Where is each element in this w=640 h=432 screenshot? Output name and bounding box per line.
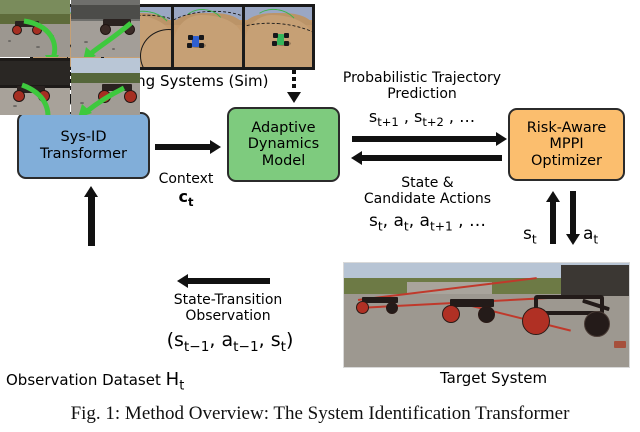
dynamics-line3: Model (262, 153, 306, 169)
observation-photo (71, 0, 141, 57)
green-motion-arrow (22, 15, 69, 57)
target-system-photo (343, 262, 630, 368)
vehicle-body (192, 36, 199, 47)
wheel (284, 33, 289, 38)
observation-line1: State-Transition (174, 292, 283, 308)
dot (292, 84, 296, 88)
rover-wheel (522, 307, 550, 335)
rover-wheel (584, 311, 610, 337)
context-label: Context ct (146, 172, 226, 209)
adaptive-dynamics-model-box[interactable]: Adaptive Dynamics Model (227, 107, 340, 182)
observation-arrowhead (177, 274, 188, 288)
wheel (199, 35, 204, 40)
green-motion-arrow (75, 19, 139, 57)
observation-dataset-label: Observation Dataset Ht (6, 370, 184, 394)
green-motion-arrow (18, 81, 69, 115)
sim-vehicle (188, 35, 204, 48)
target-system-label: Target System (440, 370, 547, 387)
context-text: Context (159, 171, 214, 187)
state-actions-label: State & Candidate Actions (340, 176, 515, 207)
prediction-line2: Prediction (387, 86, 457, 102)
state-actions-arrowhead (351, 151, 362, 165)
context-symbol: ct (179, 187, 194, 206)
rover-wheel (442, 305, 460, 323)
sysid-line2: Transformer (40, 146, 127, 162)
sim-panel-green (245, 7, 313, 67)
arrowhead-down (287, 92, 301, 103)
sim-vehicle (273, 33, 289, 46)
observation-line2: Observation (185, 308, 270, 324)
observation-label: State-Transition Observation (163, 293, 293, 324)
dataset-to-sysid-shaft (88, 196, 95, 246)
state-actions-arrow-shaft (362, 155, 502, 161)
wheel (284, 41, 289, 46)
dot (292, 77, 296, 81)
target-rover-mid (442, 297, 504, 323)
sysid-line1: Sys-ID (60, 129, 106, 145)
mppi-line2: MPPI (549, 136, 583, 152)
structure-right (561, 265, 629, 296)
target-rover-near (522, 293, 618, 337)
rover-wheel (386, 302, 398, 314)
wheel (187, 43, 192, 48)
sysid-transformer-box[interactable]: Sys-ID Transformer (17, 112, 150, 179)
wheel (199, 43, 204, 48)
observation-dataset-photos (0, 0, 140, 115)
wheel (273, 33, 278, 38)
observation-arrow-shaft (188, 278, 270, 284)
dataset-to-sysid-arrowhead (84, 186, 98, 197)
state-actions-line2: Candidate Actions (364, 191, 491, 207)
dynamics-line1: Adaptive (251, 120, 315, 136)
wheel (272, 41, 277, 46)
observation-dataset-symbol: Ht (166, 369, 185, 390)
plant-state-symbol: st (523, 225, 537, 247)
vehicle-body (277, 34, 284, 45)
mppi-line1: Risk-Aware (527, 120, 607, 136)
plant-action-symbol: at (583, 225, 598, 247)
plant-down-arrow-shaft (570, 191, 576, 235)
plant-up-arrow-shaft (550, 200, 556, 244)
prediction-symbols: st+1 , st+2 , … (332, 108, 512, 129)
prediction-label: Probabilistic Trajectory Prediction (332, 71, 512, 102)
gravel-speck (13, 105, 17, 107)
mppi-line3: Optimizer (531, 153, 602, 169)
context-arrowhead (210, 140, 221, 154)
dot (292, 70, 296, 74)
brick (614, 341, 626, 348)
observation-photo (0, 0, 70, 57)
target-rover-far (356, 295, 408, 315)
dotted-arrow-to-dynamics (292, 70, 296, 91)
context-arrow-shaft (155, 144, 211, 150)
figure-caption: Fig. 1: Method Overview: The System Iden… (0, 403, 640, 425)
observation-photo (71, 58, 141, 115)
green-motion-arrow (72, 82, 132, 115)
prediction-line1: Probabilistic Trajectory (343, 70, 501, 86)
rover-wheel (356, 301, 369, 314)
state-actions-line1: State & (401, 175, 453, 191)
observation-photo (0, 58, 70, 115)
plant-down-arrowhead (566, 234, 580, 245)
sim-panel-blue (174, 7, 245, 67)
rover-wheel (478, 306, 495, 323)
prediction-arrowhead (496, 132, 507, 146)
observation-symbols: (st−1, at−1, st) (155, 330, 305, 355)
dynamics-line2: Dynamics (248, 136, 320, 152)
prediction-arrow-shaft (352, 136, 497, 142)
observation-dataset-text: Observation Dataset (6, 371, 161, 389)
wheel (188, 35, 193, 40)
risk-aware-mppi-optimizer-box[interactable]: Risk-Aware MPPI Optimizer (508, 108, 625, 181)
state-actions-symbols: st, at, at+1 , … (340, 212, 515, 234)
plant-up-arrowhead (546, 191, 560, 202)
